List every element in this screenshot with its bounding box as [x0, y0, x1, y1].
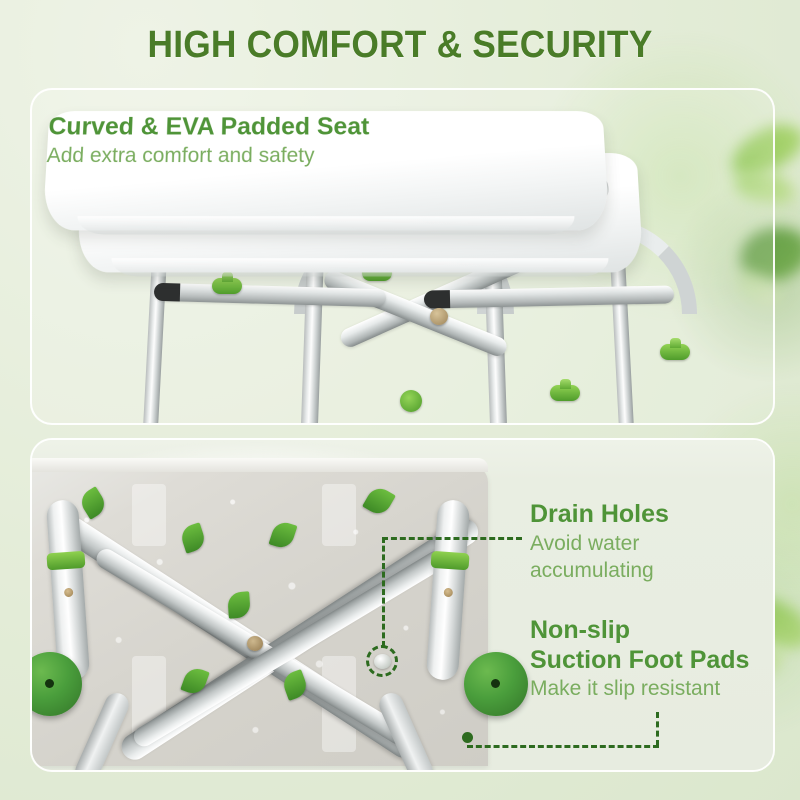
- callout-drain-holes: Drain Holes Avoid water accumulating: [530, 498, 705, 584]
- screw-pin-left: [64, 588, 74, 598]
- callout-heading-line-2: Suction Foot Pads: [530, 645, 749, 675]
- crossbar-end-cap-left: [154, 283, 180, 302]
- callout-heading-line-1: Non-slip: [530, 615, 749, 645]
- chair-center-pivot-bolt: [430, 308, 448, 325]
- green-adjust-knob-5: [660, 344, 690, 360]
- suction-foot-pad-right: [464, 652, 528, 716]
- product-image-chair-underside: [32, 440, 775, 772]
- crossbar-end-cap-right: [424, 290, 450, 309]
- callout-subtext-line-2: accumulating: [530, 557, 705, 584]
- drain-callout-line-vertical: [382, 537, 385, 647]
- suction-callout-line-vertical: [656, 712, 659, 746]
- caption-heading: Curved & EVA Padded Seat: [48, 111, 605, 142]
- callout-suction-foot-pads: Non-slip Suction Foot Pads Make it slip …: [530, 615, 749, 703]
- callout-subtext: Make it slip resistant: [530, 675, 749, 703]
- green-collar-right: [431, 551, 470, 571]
- feature-card-underside: [30, 438, 775, 772]
- green-adjust-knob-1: [212, 278, 242, 294]
- suction-pad-marker-dot: [462, 732, 473, 743]
- green-collar-left: [46, 551, 85, 571]
- callout-subtext-line-1: Avoid water: [530, 530, 705, 557]
- screw-pin-right: [444, 588, 454, 598]
- suction-callout-line-horizontal: [467, 745, 659, 748]
- drain-hole-marker-circle: [366, 645, 398, 677]
- callout-heading: Drain Holes: [530, 498, 705, 530]
- green-adjust-knob-4: [400, 390, 422, 412]
- drain-callout-line-horizontal: [382, 537, 522, 540]
- green-adjust-knob-3: [550, 385, 580, 401]
- caption-subtext: Add extra comfort and safety: [46, 142, 606, 170]
- caption-curved-eva-seat: Curved & EVA Padded Seat Add extra comfo…: [42, 111, 609, 230]
- page-title: HIGH COMFORT & SECURITY: [28, 22, 772, 68]
- underside-center-pivot-bolt: [247, 636, 263, 651]
